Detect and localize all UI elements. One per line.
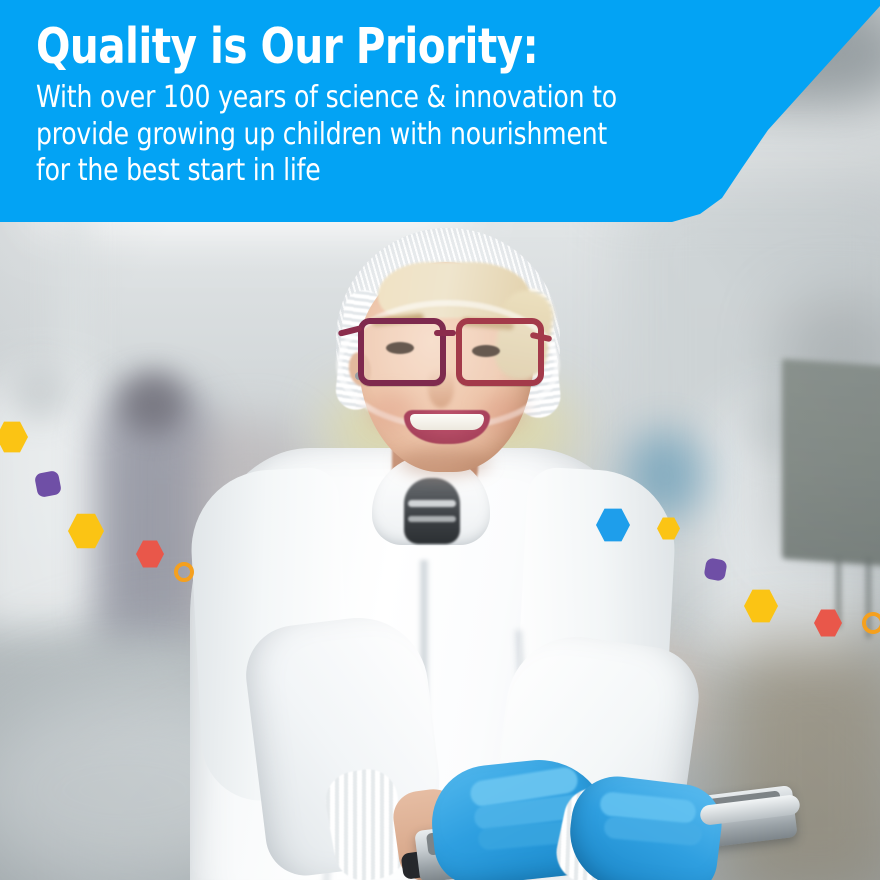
page-subtitle-line-3: for the best start in life: [36, 153, 720, 190]
background-machine-leg-1: [836, 558, 841, 628]
header-banner-content: Quality is Our Priority: With over 100 y…: [36, 22, 772, 190]
background-pole: [60, 210, 86, 460]
poster-root: Quality is Our Priority: With over 100 y…: [0, 0, 880, 880]
page-subtitle-line-1: With over 100 years of science & innovat…: [36, 80, 720, 117]
page-subtitle: With over 100 years of science & innovat…: [36, 80, 720, 190]
background-rail: [0, 470, 340, 494]
background-machine-panel: [782, 359, 880, 567]
page-subtitle-line-2: provide growing up children with nourish…: [36, 117, 720, 154]
background-machine-leg-2: [866, 558, 871, 638]
page-title: Quality is Our Priority:: [36, 22, 713, 72]
